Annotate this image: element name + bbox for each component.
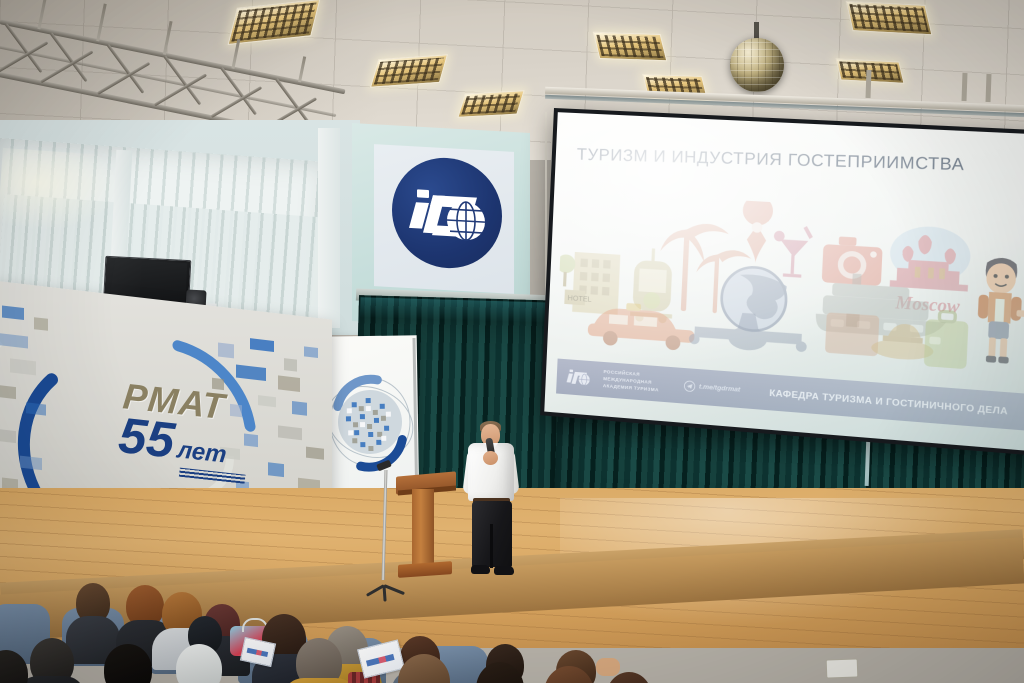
rail-bracket (986, 74, 992, 102)
auditorium-photo: ТУРИЗМ И ИНДУСТРИЯ ГОСТЕПРИИМСТВА HOTEL (0, 0, 1024, 683)
anniversary-word: лет (176, 436, 228, 469)
speaker-hands (483, 451, 498, 465)
window-light-glow (0, 148, 123, 236)
rail-bracket (866, 70, 872, 98)
audience-arm (596, 658, 620, 676)
audience-area (0, 580, 700, 683)
projection-screen: ТУРИЗМ И ИНДУСТРИЯ ГОСТЕПРИИМСТВА HOTEL (540, 108, 1024, 456)
grid-lamp-icon (457, 90, 524, 118)
audience-head (296, 638, 342, 683)
screen-glare (544, 112, 1024, 452)
curtain-backlight (360, 297, 557, 336)
grid-lamp-icon (593, 32, 668, 62)
wall-column (318, 128, 340, 328)
ito-logo-icon (392, 155, 502, 271)
speaker-shoe-left (471, 565, 490, 574)
rail-bracket (962, 73, 968, 101)
lectern-column (412, 489, 434, 567)
grid-lamp-icon (370, 54, 448, 88)
speaker-shoe-right (494, 566, 514, 575)
grid-lamp-icon (846, 1, 933, 36)
floor-socket (826, 658, 859, 678)
speaker-leg-split (490, 524, 493, 568)
mirror-ball-facets (730, 38, 784, 92)
anniversary-number: 55 (117, 413, 177, 464)
rmat-banner-text: РМАТ 55 лет (115, 375, 254, 483)
